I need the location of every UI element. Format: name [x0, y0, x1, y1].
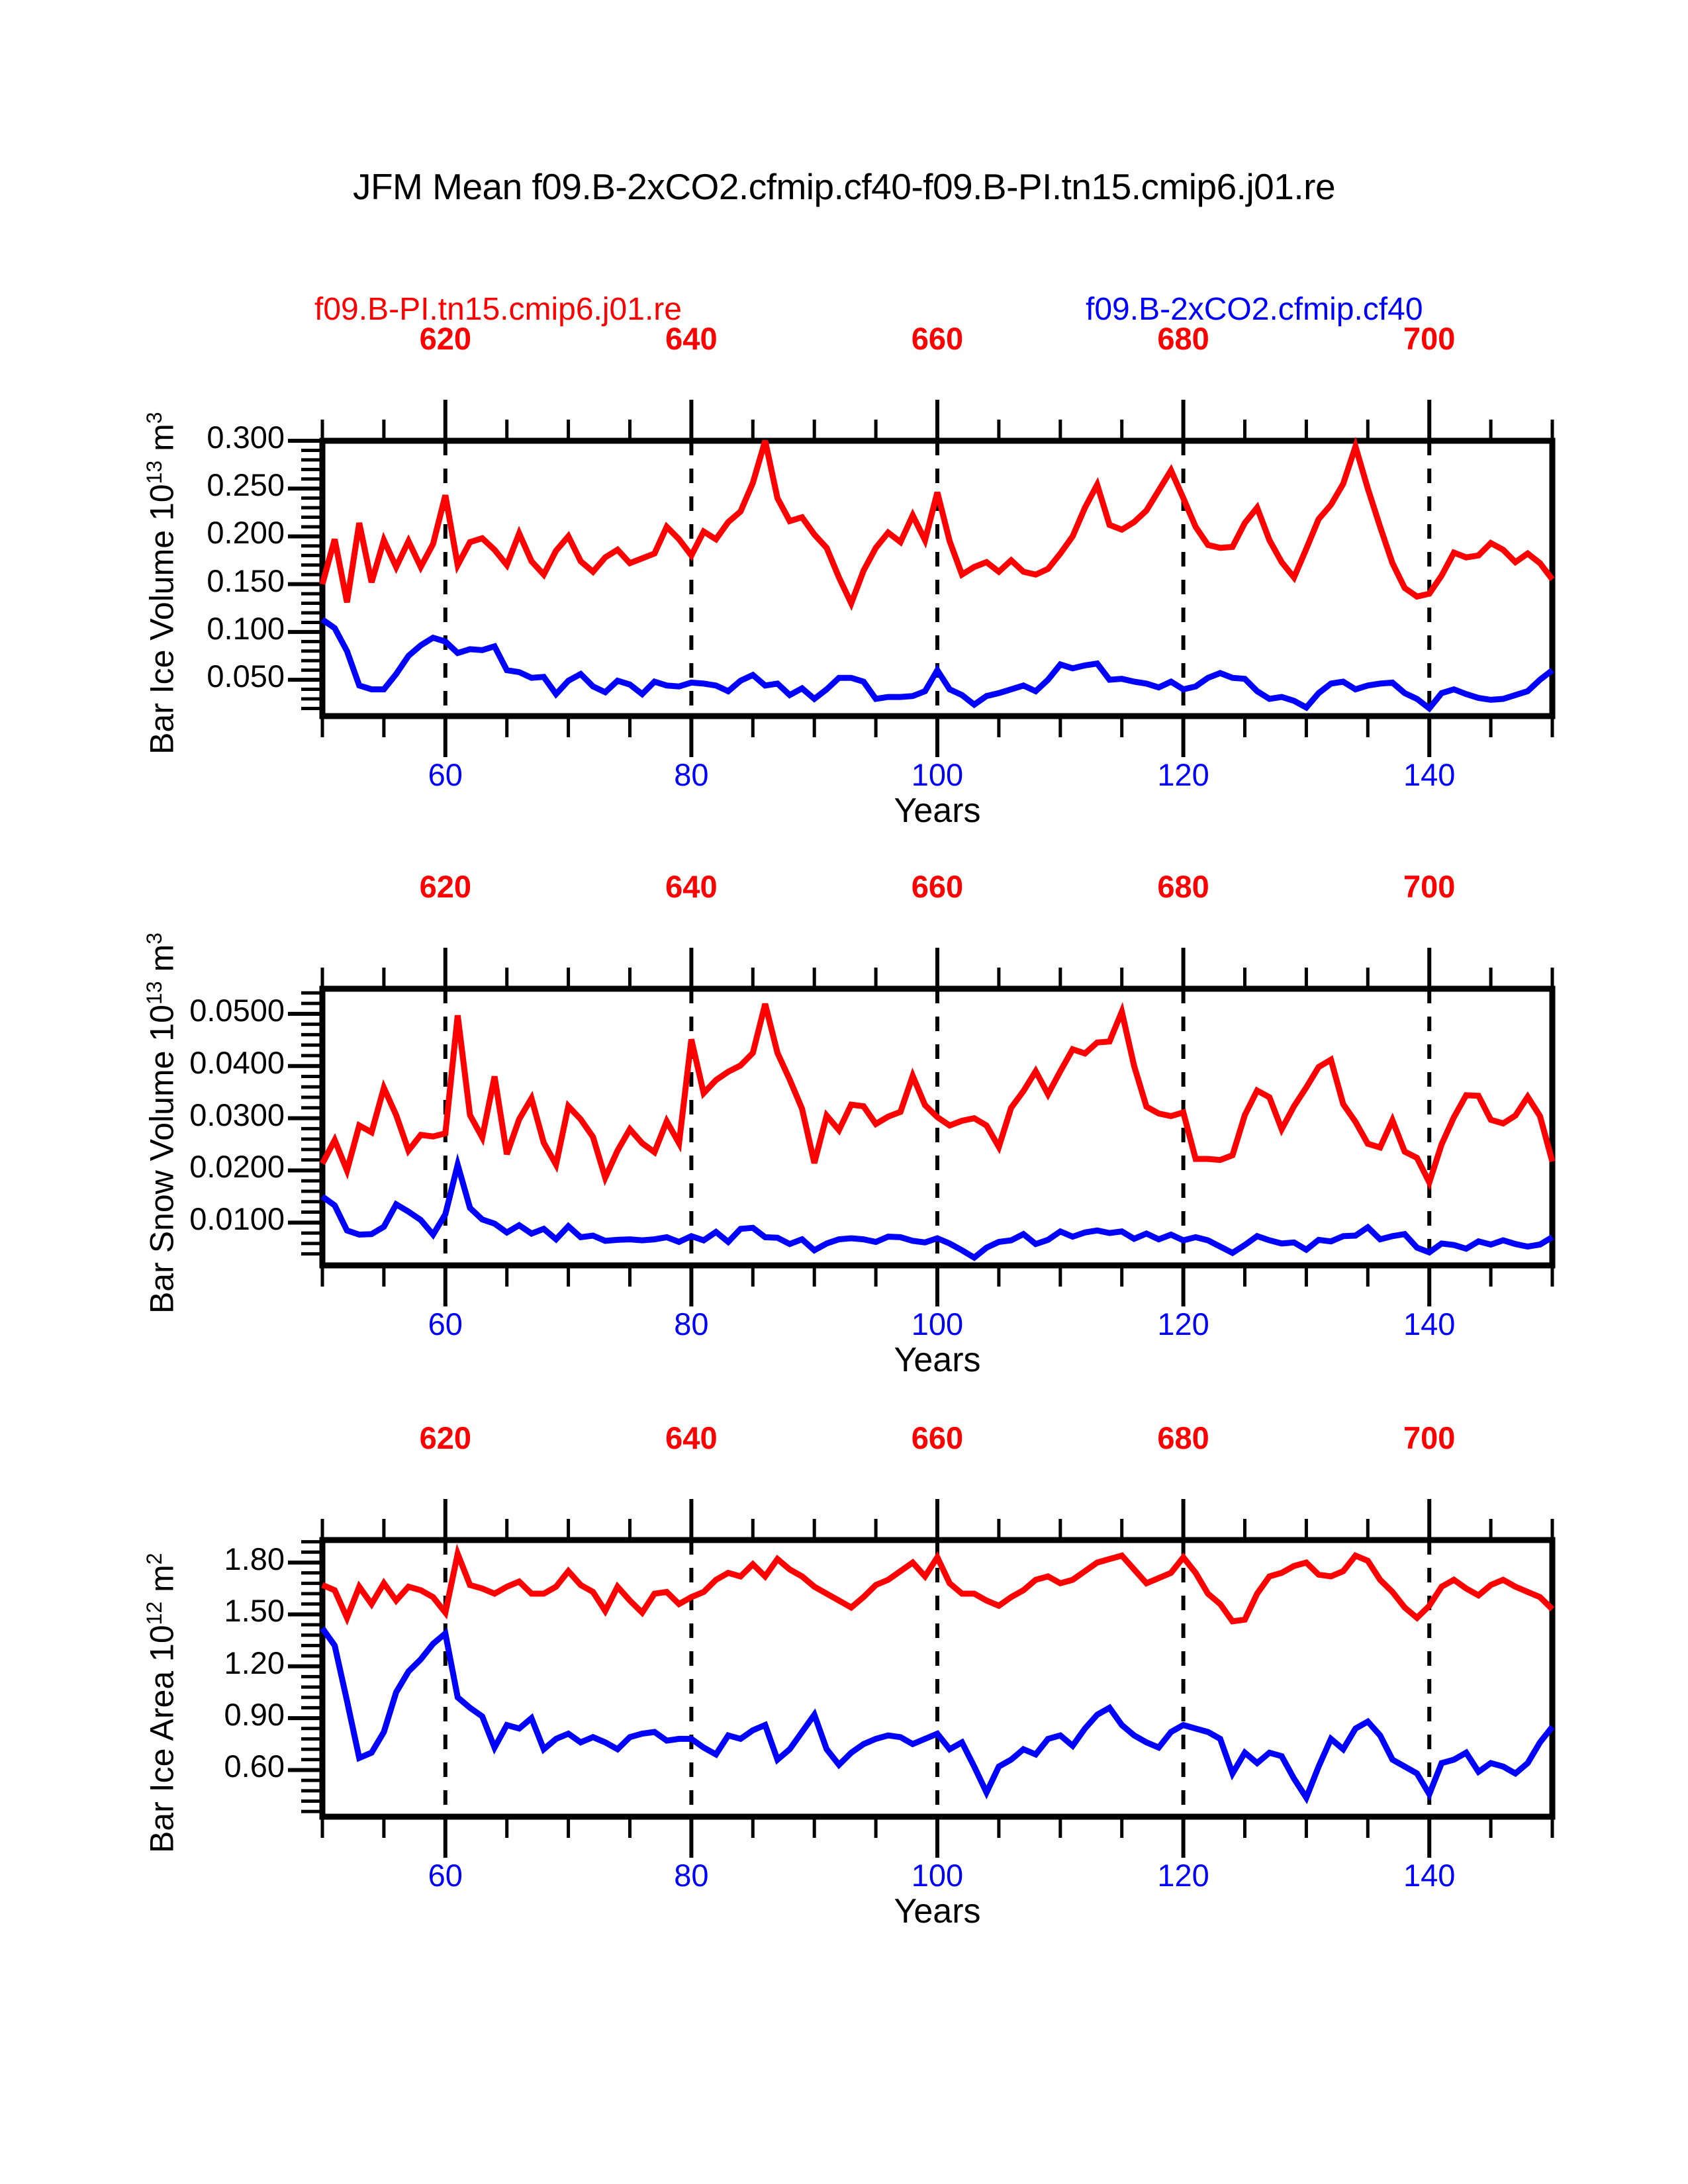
y-tick-label: 0.90 [86, 1696, 285, 1733]
x-tick-label-bottom: 140 [1356, 1857, 1502, 1893]
y-tick-label: 0.60 [86, 1748, 285, 1784]
y-tick-label: 1.20 [86, 1645, 285, 1681]
x-tick-label-bottom: 100 [865, 1857, 1010, 1893]
x-tick-label-top: 620 [373, 1420, 518, 1456]
x-tick-label-top: 660 [865, 1420, 1010, 1456]
y-axis-title: Bar Ice Area 1012 m2 [142, 1553, 181, 1853]
y-tick-label: 1.50 [86, 1592, 285, 1629]
x-tick-label-top: 700 [1356, 1420, 1502, 1456]
chart-page: JFM Mean f09.B-2xCO2.cfmip.cf40-f09.B-PI… [0, 0, 1688, 2184]
x-tick-label-top: 680 [1111, 1420, 1256, 1456]
x-tick-label-bottom: 120 [1111, 1857, 1256, 1893]
y-tick-label: 1.80 [86, 1541, 285, 1577]
x-tick-label-top: 640 [618, 1420, 764, 1456]
series-line-red [322, 1554, 1552, 1621]
x-tick-label-bottom: 80 [618, 1857, 764, 1893]
panel-3-plot [0, 0, 1688, 2184]
x-axis-title: Years [322, 1891, 1552, 1931]
x-tick-label-bottom: 60 [373, 1857, 518, 1893]
